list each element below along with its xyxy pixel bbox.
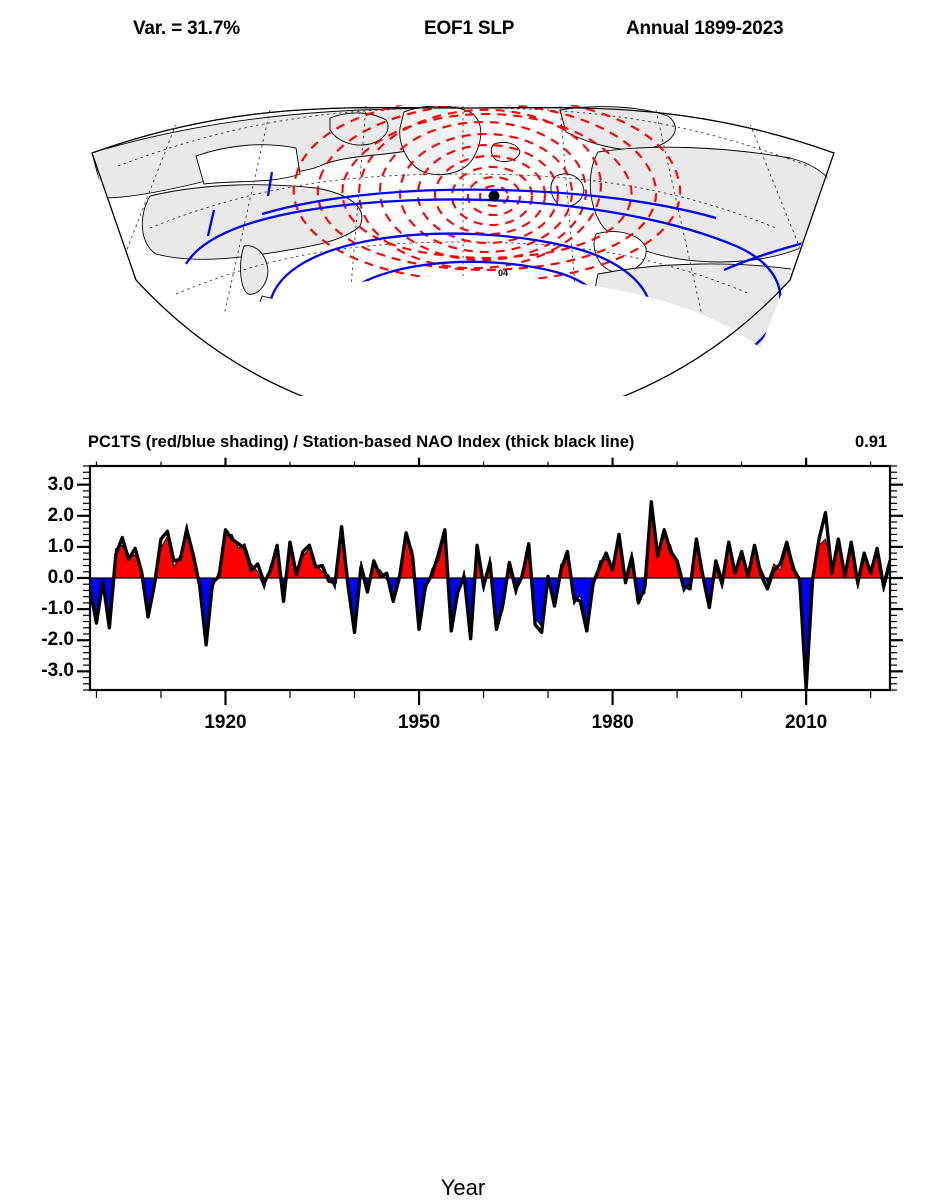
x-axis-title: Year	[418, 1175, 508, 1201]
slp-eof-map-panel: 04 04 04 04 04	[0, 48, 926, 396]
y-tick-label: 3.0	[14, 474, 74, 496]
field-label: EOF1 SLP	[424, 18, 514, 40]
timeseries-panel: PC1TS (red/blue shading) / Station-based…	[0, 425, 926, 805]
x-tick-label: 1950	[374, 712, 464, 734]
y-tick-label: -2.0	[14, 629, 74, 651]
y-tick-label: -1.0	[14, 598, 74, 620]
timeseries-svg	[0, 425, 926, 805]
y-tick-label: -3.0	[14, 660, 74, 682]
x-tick-label: 1920	[180, 712, 270, 734]
map-svg: 04 04 04 04 04	[0, 48, 926, 396]
period-label: Annual 1899-2023	[626, 18, 783, 40]
contour-label: 04	[498, 268, 508, 278]
y-tick-label: 0.0	[14, 567, 74, 589]
x-tick-label: 1980	[568, 712, 658, 734]
y-tick-label: 1.0	[14, 536, 74, 558]
variance-label: Var. = 31.7%	[133, 18, 240, 40]
station-nao-line	[90, 502, 890, 689]
iceland-station-dot	[489, 191, 500, 202]
y-tick-label: 2.0	[14, 505, 74, 527]
figure-root: Var. = 31.7% EOF1 SLP Annual 1899-2023	[0, 0, 926, 805]
x-tick-label: 2010	[761, 712, 851, 734]
